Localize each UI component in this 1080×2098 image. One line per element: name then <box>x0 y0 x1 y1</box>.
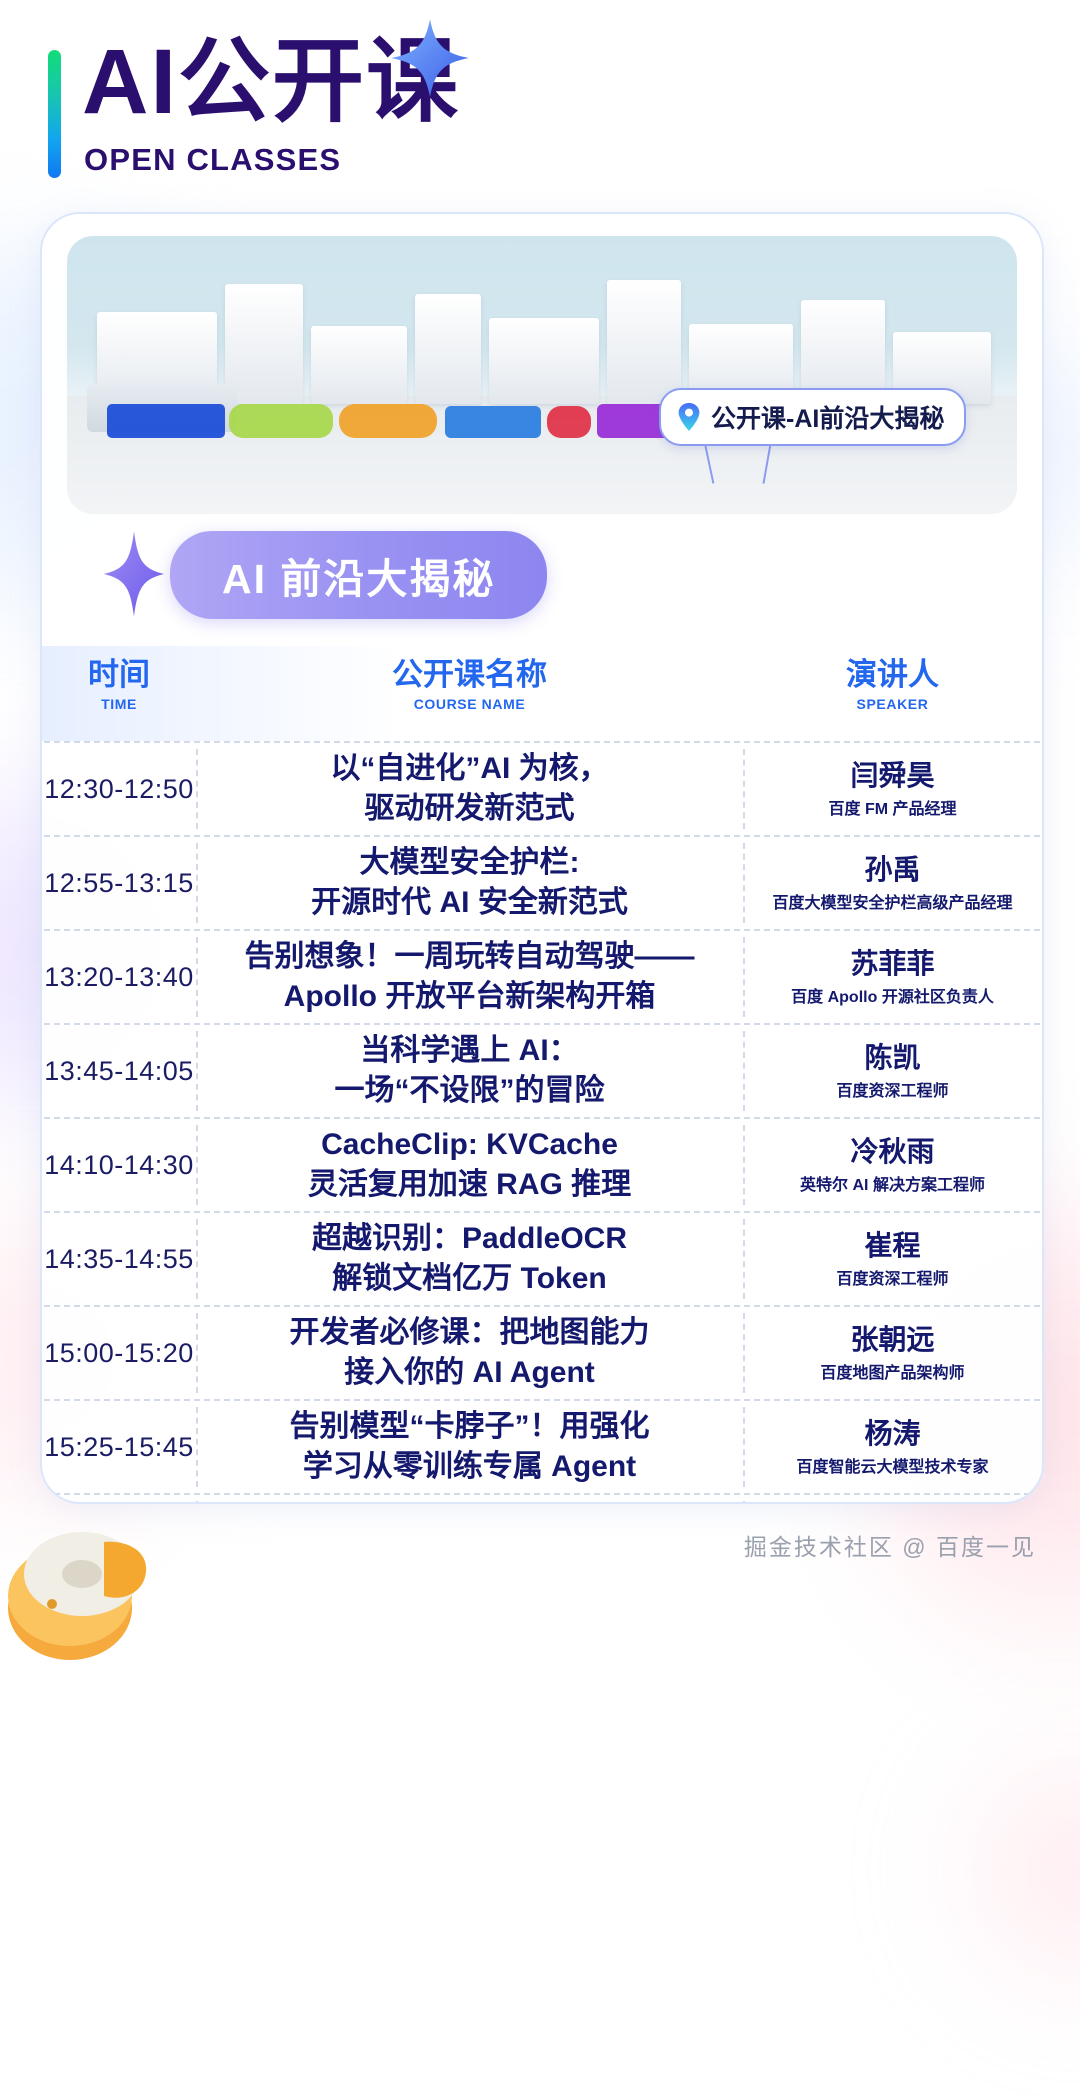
column-divider <box>743 843 745 923</box>
course-title-line1: 超越识别：PaddleOCR <box>206 1219 733 1259</box>
speaker-role: 百度智能云大模型技术专家 <box>743 1458 1042 1477</box>
cell-time: 12:55-13:15 <box>42 868 196 899</box>
location-badge[interactable]: 公开课-AI前沿大揭秘 <box>659 388 966 446</box>
speaker-name: 陈凯 <box>743 1041 1042 1075</box>
column-divider <box>743 1031 745 1111</box>
cell-course: 大模型安全护栏:开源时代 AI 安全新范式 <box>196 843 743 922</box>
accent-bar <box>48 50 61 178</box>
column-header-course-en: COURSE NAME <box>196 696 743 712</box>
table-row[interactable]: 15:50-16:10BI 革命：Turing Agent让数据自己说话刘心怡百… <box>42 1495 1042 1504</box>
cell-speaker: 陈凯百度资深工程师 <box>743 1041 1042 1101</box>
course-title-line1: 开发者必修课：把地图能力 <box>206 1313 733 1353</box>
cell-speaker: 孙禹百度大模型安全护栏高级产品经理 <box>743 853 1042 913</box>
speaker-name: 孙禹 <box>743 853 1042 887</box>
cell-time: 13:20-13:40 <box>42 962 196 993</box>
cell-course: CacheClip: KVCache灵活复用加速 RAG 推理 <box>196 1125 743 1204</box>
cell-course: 当科学遇上 AI：一场“不设限”的冒险 <box>196 1031 743 1110</box>
hero-building <box>489 318 599 404</box>
course-title-line2: 接入你的 AI Agent <box>206 1353 733 1393</box>
schedule-card: 公开课-AI前沿大揭秘 AI 前沿大揭秘 时间 TIME 公开课名称 COURS… <box>40 212 1044 1504</box>
course-title-line1: 告别想象！一周玩转自动驾驶—— <box>206 937 733 977</box>
column-header-speaker-cn: 演讲人 <box>743 658 1042 692</box>
cell-time: 14:10-14:30 <box>42 1150 196 1181</box>
sparkle-icon <box>388 16 472 100</box>
hero-building <box>311 326 407 404</box>
column-divider <box>196 1219 198 1299</box>
cell-course: 开发者必修课：把地图能力接入你的 AI Agent <box>196 1313 743 1392</box>
column-divider <box>196 1407 198 1487</box>
speaker-role: 百度资深工程师 <box>743 1270 1042 1289</box>
course-title-line2: Apollo 开放平台新架构开箱 <box>206 977 733 1017</box>
cell-speaker: 崔程百度资深工程师 <box>743 1229 1042 1289</box>
column-divider <box>196 843 198 923</box>
column-divider <box>196 1031 198 1111</box>
hero-image: 公开课-AI前沿大揭秘 <box>67 236 1017 514</box>
course-title-line2: 学习从零训练专属 Agent <box>206 1447 733 1487</box>
speaker-role: 百度地图产品架构师 <box>743 1364 1042 1383</box>
page-subtitle: OPEN CLASSES <box>84 142 341 178</box>
section-title-pill: AI 前沿大揭秘 <box>170 531 547 619</box>
column-divider <box>196 937 198 1017</box>
table-row[interactable]: 12:55-13:15大模型安全护栏:开源时代 AI 安全新范式孙禹百度大模型安… <box>42 837 1042 929</box>
speaker-role: 百度大模型安全护栏高级产品经理 <box>743 894 1042 913</box>
table-row[interactable]: 15:25-15:45告别模型“卡脖子”！用强化学习从零训练专属 Agent杨涛… <box>42 1401 1042 1493</box>
sparkle-icon <box>102 530 166 618</box>
cell-time: 14:35-14:55 <box>42 1244 196 1275</box>
column-header-course-cn: 公开课名称 <box>196 658 743 692</box>
column-divider <box>196 749 198 829</box>
table-row[interactable]: 14:10-14:30CacheClip: KVCache灵活复用加速 RAG … <box>42 1119 1042 1211</box>
location-pin-icon <box>677 402 701 432</box>
column-header-course: 公开课名称 COURSE NAME <box>196 658 743 712</box>
column-header-time-en: TIME <box>42 696 196 712</box>
table-row[interactable]: 12:30-12:50以“自进化”AI 为核，驱动研发新范式闫舜昊百度 FM 产… <box>42 743 1042 835</box>
column-header-speaker: 演讲人 SPEAKER <box>743 658 1042 712</box>
column-divider <box>196 1501 198 1504</box>
location-badge-label: 公开课-AI前沿大揭秘 <box>711 399 944 435</box>
speaker-role: 百度 FM 产品经理 <box>743 800 1042 819</box>
hero-platform <box>445 406 541 438</box>
hero-platform <box>107 404 225 438</box>
cell-course: 以“自进化”AI 为核，驱动研发新范式 <box>196 749 743 828</box>
course-title-line1: 当科学遇上 AI： <box>206 1031 733 1071</box>
course-title-line2: 开源时代 AI 安全新范式 <box>206 883 733 923</box>
table-row[interactable]: 13:45-14:05当科学遇上 AI：一场“不设限”的冒险陈凯百度资深工程师 <box>42 1025 1042 1117</box>
table-header-row: 时间 TIME 公开课名称 COURSE NAME 演讲人 SPEAKER <box>42 646 1042 741</box>
blob-bottom-right <box>930 1720 1080 2020</box>
cell-time: 15:00-15:20 <box>42 1338 196 1369</box>
column-divider <box>743 1219 745 1299</box>
column-divider <box>743 749 745 829</box>
column-divider <box>743 1501 745 1504</box>
course-title-line2: 一场“不设限”的冒险 <box>206 1071 733 1111</box>
course-title-line2: 解锁文档亿万 Token <box>206 1259 733 1299</box>
table-row[interactable]: 15:00-15:20开发者必修课：把地图能力接入你的 AI Agent张朝远百… <box>42 1307 1042 1399</box>
hero-platform <box>229 404 333 438</box>
column-divider <box>196 1313 198 1393</box>
footer-credit: 掘金技术社区 @ 百度一见 <box>744 1528 1036 1562</box>
course-title-line1: BI 革命：Turing Agent <box>206 1501 733 1504</box>
cell-speaker: 杨涛百度智能云大模型技术专家 <box>743 1417 1042 1477</box>
cell-speaker: 张朝远百度地图产品架构师 <box>743 1323 1042 1383</box>
table-row[interactable]: 14:35-14:55超越识别：PaddleOCR解锁文档亿万 Token崔程百… <box>42 1213 1042 1305</box>
hero-platform <box>547 406 591 438</box>
cell-course: 告别想象！一周玩转自动驾驶——Apollo 开放平台新架构开箱 <box>196 937 743 1016</box>
speaker-role: 百度 Apollo 开源社区负责人 <box>743 988 1042 1007</box>
speaker-name: 冷秋雨 <box>743 1135 1042 1169</box>
cell-course: 告别模型“卡脖子”！用强化学习从零训练专属 Agent <box>196 1407 743 1486</box>
decorative-donut-illustration <box>8 1500 188 1670</box>
course-title-line2: 灵活复用加速 RAG 推理 <box>206 1165 733 1205</box>
cell-time: 13:45-14:05 <box>42 1056 196 1087</box>
course-title-line1: CacheClip: KVCache <box>206 1125 733 1165</box>
speaker-name: 闫舜昊 <box>743 759 1042 793</box>
schedule-table: 时间 TIME 公开课名称 COURSE NAME 演讲人 SPEAKER 12… <box>42 646 1042 1504</box>
column-header-time: 时间 TIME <box>42 658 196 712</box>
cell-time: 12:30-12:50 <box>42 774 196 805</box>
cell-course: BI 革命：Turing Agent让数据自己说话 <box>196 1501 743 1504</box>
column-header-speaker-en: SPEAKER <box>743 696 1042 712</box>
table-row[interactable]: 13:20-13:40告别想象！一周玩转自动驾驶——Apollo 开放平台新架构… <box>42 931 1042 1023</box>
column-divider <box>196 1125 198 1205</box>
cell-course: 超越识别：PaddleOCR解锁文档亿万 Token <box>196 1219 743 1298</box>
cell-time: 15:25-15:45 <box>42 1432 196 1463</box>
hero-building <box>225 284 303 404</box>
speaker-role: 英特尔 AI 解决方案工程师 <box>743 1176 1042 1195</box>
column-divider <box>743 1313 745 1393</box>
cell-speaker: 冷秋雨英特尔 AI 解决方案工程师 <box>743 1135 1042 1195</box>
speaker-role: 百度资深工程师 <box>743 1082 1042 1101</box>
cell-speaker: 闫舜昊百度 FM 产品经理 <box>743 759 1042 819</box>
poster-header: AI公开课 OPEN CLASSES <box>0 0 1080 210</box>
column-header-time-cn: 时间 <box>42 658 196 692</box>
course-title-line1: 以“自进化”AI 为核， <box>206 749 733 789</box>
section-title-label: AI 前沿大揭秘 <box>222 556 495 602</box>
speaker-name: 崔程 <box>743 1229 1042 1263</box>
column-divider <box>743 937 745 1017</box>
hero-platform <box>339 404 437 438</box>
cell-speaker: 苏菲菲百度 Apollo 开源社区负责人 <box>743 947 1042 1007</box>
hero-building <box>415 294 481 404</box>
column-divider <box>743 1125 745 1205</box>
speaker-name: 张朝远 <box>743 1323 1042 1357</box>
course-title-line2: 驱动研发新范式 <box>206 789 733 829</box>
hero-building <box>607 280 681 404</box>
speaker-name: 杨涛 <box>743 1417 1042 1451</box>
speaker-name: 苏菲菲 <box>743 947 1042 981</box>
column-divider <box>743 1407 745 1487</box>
course-title-line1: 告别模型“卡脖子”！用强化 <box>206 1407 733 1447</box>
course-title-line1: 大模型安全护栏: <box>206 843 733 883</box>
